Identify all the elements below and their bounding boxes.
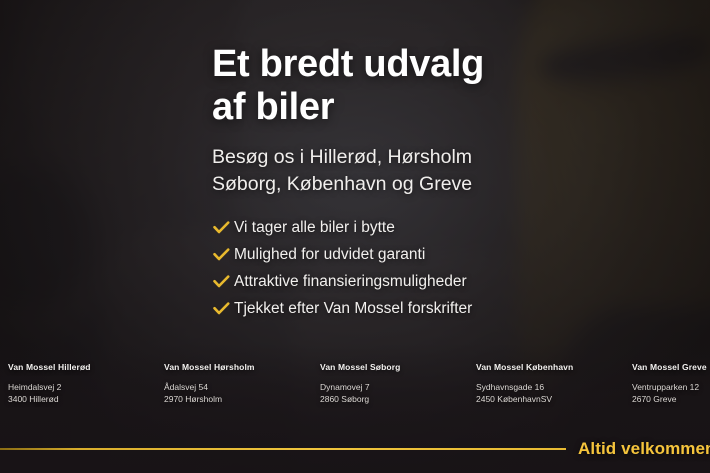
- location-card[interactable]: Van Mossel Hørsholm Ådalsvej 54 2970 Hør…: [156, 362, 312, 410]
- location-name: Van Mossel Søborg: [320, 362, 468, 372]
- location-street: Dynamovej 7: [320, 381, 468, 393]
- location-name: Van Mossel Greve: [632, 362, 710, 372]
- location-name: Van Mossel Hillerød: [8, 362, 156, 372]
- location-city: 2450 KøbenhavnSV: [476, 393, 624, 405]
- locations-row: Van Mossel Hillerød Heimdalsvej 2 3400 H…: [0, 362, 710, 410]
- check-icon: [208, 298, 234, 320]
- benefit-label: Vi tager alle biler i bytte: [234, 220, 395, 236]
- location-city: 2670 Greve: [632, 393, 710, 405]
- location-name: Van Mossel Hørsholm: [164, 362, 312, 372]
- benefit-label: Attraktive finansieringsmuligheder: [234, 274, 467, 290]
- list-item: Mulighed for udvidet garanti: [208, 242, 472, 268]
- benefit-label: Tjekket efter Van Mossel forskrifter: [234, 301, 472, 317]
- list-item: Tjekket efter Van Mossel forskrifter: [208, 296, 472, 322]
- page-title: Et bredt udvalg af biler: [212, 43, 652, 128]
- location-card[interactable]: Van Mossel Greve Ventrupparken 12 2670 G…: [624, 362, 710, 410]
- location-street: Ådalsvej 54: [164, 381, 312, 393]
- benefits-list: Vi tager alle biler i bytte Mulighed for…: [208, 215, 472, 323]
- location-card[interactable]: Van Mossel Hillerød Heimdalsvej 2 3400 H…: [0, 362, 156, 410]
- check-icon: [208, 244, 234, 266]
- hero-banner: Et bredt udvalg af biler Besøg os i Hill…: [0, 0, 710, 473]
- location-city: 2860 Søborg: [320, 393, 468, 405]
- gold-divider: [0, 448, 566, 450]
- list-item: Vi tager alle biler i bytte: [208, 215, 472, 241]
- footer-bar: Altid velkommen: [0, 434, 710, 464]
- location-street: Sydhavnsgade 16: [476, 381, 624, 393]
- hero-subheading: Besøg os i Hillerød, Hørsholm Søborg, Kø…: [212, 144, 672, 198]
- check-icon: [208, 271, 234, 293]
- location-name: Van Mossel København: [476, 362, 624, 372]
- location-street: Ventrupparken 12: [632, 381, 710, 393]
- location-card[interactable]: Van Mossel Søborg Dynamovej 7 2860 Søbor…: [312, 362, 468, 410]
- location-city: 2970 Hørsholm: [164, 393, 312, 405]
- check-icon: [208, 217, 234, 239]
- benefit-label: Mulighed for udvidet garanti: [234, 247, 425, 263]
- list-item: Attraktive finansieringsmuligheder: [208, 269, 472, 295]
- footer-slogan: Altid velkommen: [578, 439, 710, 459]
- location-street: Heimdalsvej 2: [8, 381, 156, 393]
- location-city: 3400 Hillerød: [8, 393, 156, 405]
- location-card[interactable]: Van Mossel København Sydhavnsgade 16 245…: [468, 362, 624, 410]
